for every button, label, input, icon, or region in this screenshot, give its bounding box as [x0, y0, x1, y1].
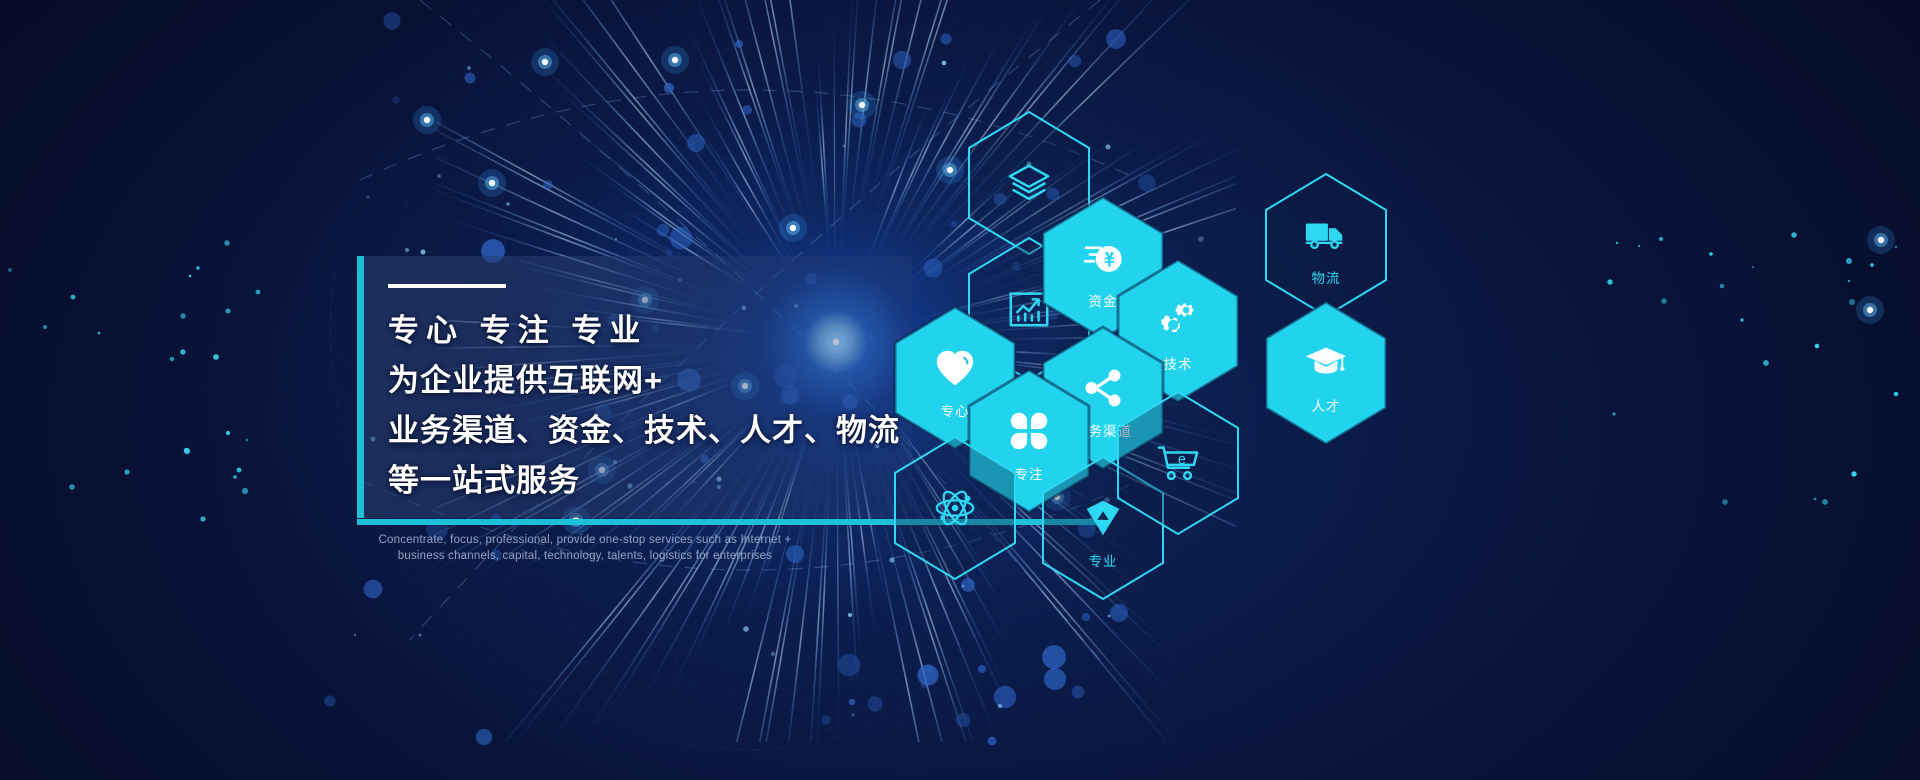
hex-tile-atom[interactable]: [892, 435, 1018, 580]
hero-subtitle: Concentrate, focus, professional, provid…: [370, 533, 800, 564]
hero-text-panel: 专心 专注 专业 为企业提供互联网+ 业务渠道、资金、技术、人才、物流 等一站式…: [357, 256, 912, 518]
truck-icon: [1303, 212, 1349, 258]
headline-line: 为企业提供互联网+: [388, 356, 918, 406]
headline-line: 等一站式服务: [388, 456, 918, 506]
hero-banner: 专心 专注 专业 为企业提供互联网+ 业务渠道、资金、技术、人才、物流 等一站式…: [0, 0, 1920, 780]
headline-line: 专心 专注 专业: [388, 306, 918, 356]
hexagon-grid: 专心 资金 技术 业务渠道 专注 专业 e: [930, 110, 1570, 640]
ecommerce-cart-icon: e: [1155, 440, 1201, 486]
hex-tile-rencai[interactable]: 人才: [1263, 300, 1389, 445]
headline-line: 业务渠道、资金、技术、人才、物流: [388, 406, 918, 456]
hex-tile-ecart[interactable]: e: [1115, 390, 1241, 535]
hex-tile-label: 人才: [1263, 395, 1389, 415]
hex-tile-wuliu[interactable]: 物流: [1263, 172, 1389, 317]
title-divider: [388, 284, 506, 288]
atom-icon: [932, 485, 978, 531]
svg-text:e: e: [1178, 452, 1186, 468]
hex-tile-label: 专业: [1040, 550, 1166, 570]
headline-list: 专心 专注 专业 为企业提供互联网+ 业务渠道、资金、技术、人才、物流 等一站式…: [388, 306, 918, 506]
hex-tile-label: 物流: [1263, 267, 1389, 287]
graduation-cap-icon: [1303, 340, 1349, 386]
